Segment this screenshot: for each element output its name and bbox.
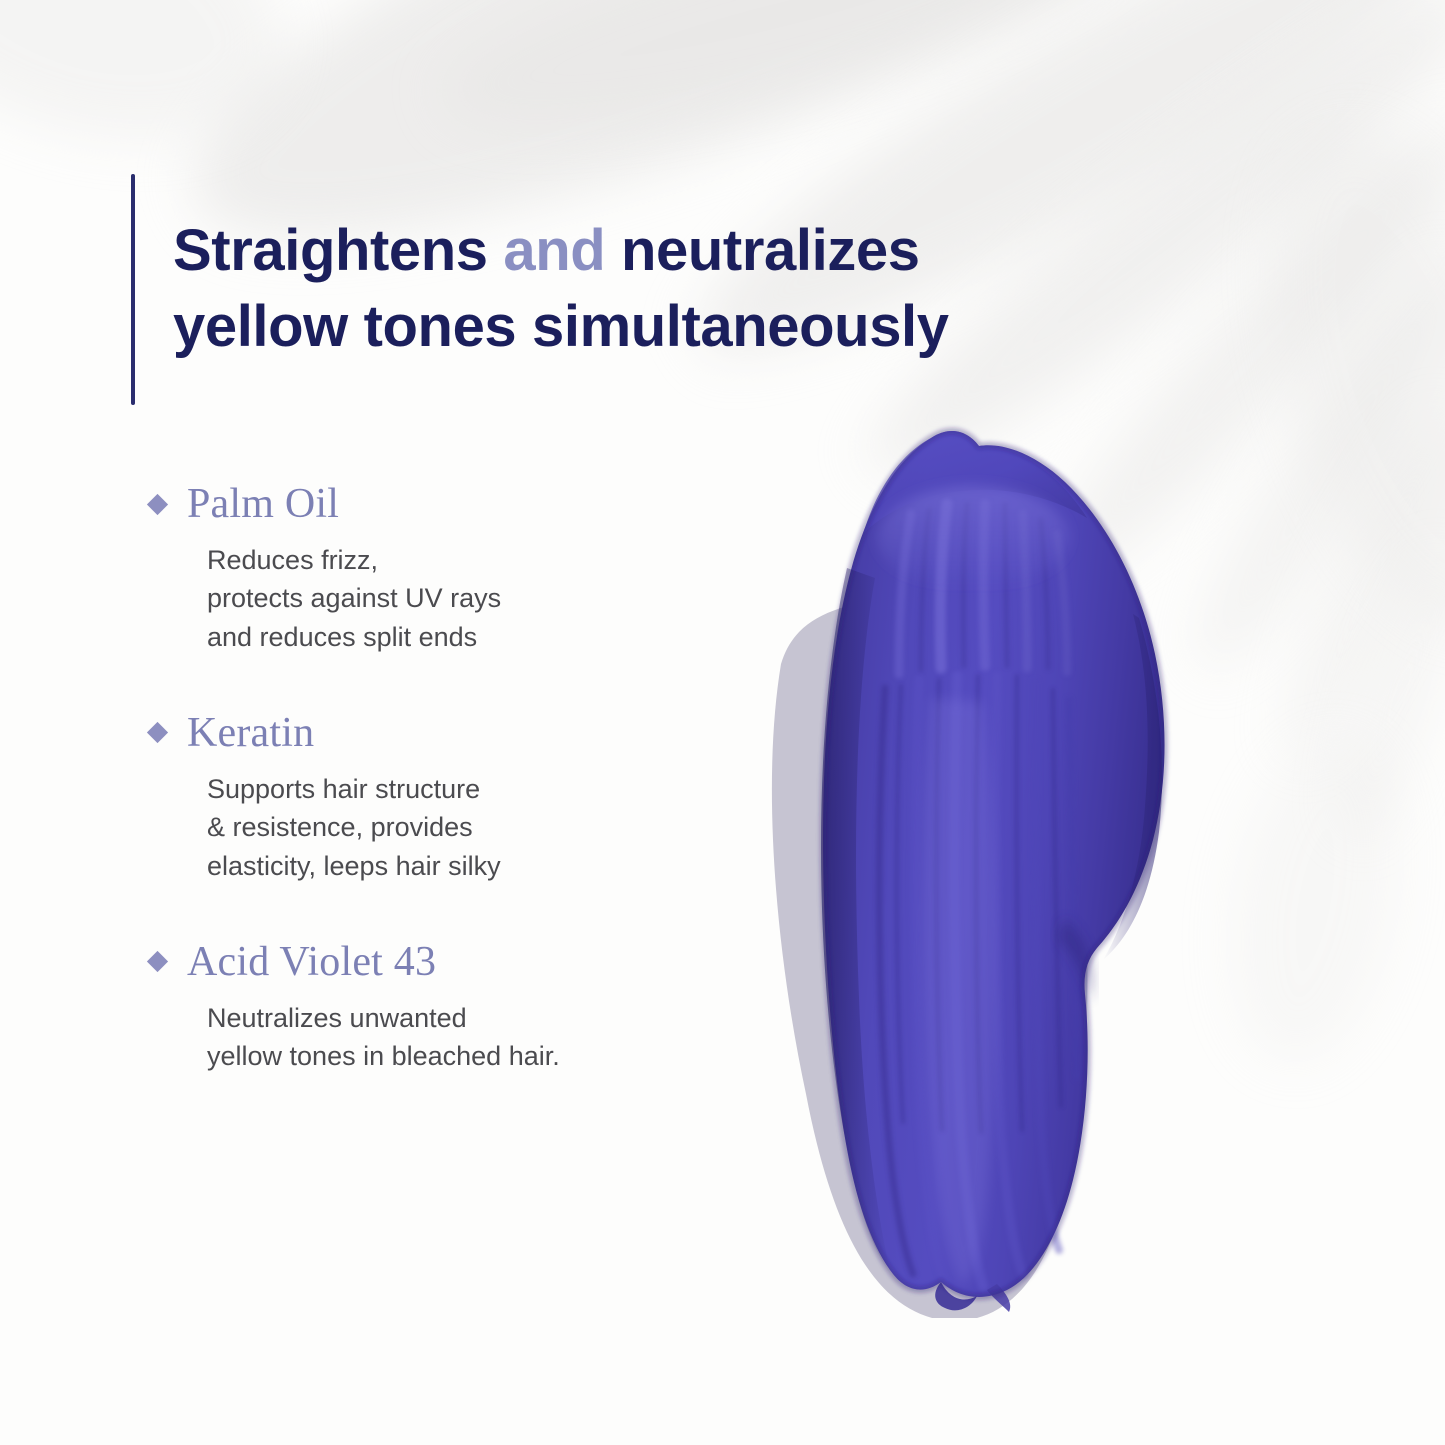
- diamond-bullet-icon: [147, 951, 168, 972]
- headline-segment-2: neutralizes: [621, 218, 920, 283]
- headline-accent-rule: [131, 174, 135, 405]
- ingredient-heading: Acid Violet 43: [145, 941, 705, 983]
- headline-segment-and: and: [503, 218, 621, 283]
- ingredient-item-keratin: Keratin Supports hair structure & resist…: [145, 712, 705, 885]
- ingredient-description: Reduces frizz, protects against UV rays …: [207, 541, 705, 656]
- headline-line-2: yellow tones simultaneously: [173, 294, 949, 359]
- ingredient-description: Neutralizes unwanted yellow tones in ble…: [207, 999, 705, 1076]
- shadow-streak: [422, 0, 1137, 172]
- product-infographic: Straightens and neutralizesyellow tones …: [0, 0, 1445, 1445]
- ingredient-title: Palm Oil: [187, 483, 339, 525]
- ingredient-item-palm-oil: Palm Oil Reduces frizz, protects against…: [145, 483, 705, 656]
- shadow-streak: [1256, 395, 1445, 775]
- diamond-bullet-icon: [147, 493, 168, 514]
- ingredient-list: Palm Oil Reduces frizz, protects against…: [145, 483, 705, 1076]
- shadow-streak: [1208, 724, 1423, 1077]
- ingredient-heading: Palm Oil: [145, 483, 705, 525]
- ingredient-title: Keratin: [187, 712, 314, 754]
- shadow-streak: [1165, 238, 1445, 693]
- shadow-streak: [0, 0, 318, 189]
- page-title: Straightens and neutralizesyellow tones …: [173, 213, 949, 366]
- ingredient-title: Acid Violet 43: [187, 941, 436, 983]
- ingredient-item-acid-violet-43: Acid Violet 43 Neutralizes unwanted yell…: [145, 941, 705, 1076]
- headline-block: Straightens and neutralizesyellow tones …: [131, 174, 949, 405]
- ingredient-description: Supports hair structure & resistence, pr…: [207, 770, 705, 885]
- diamond-bullet-icon: [147, 722, 168, 743]
- ingredient-heading: Keratin: [145, 712, 705, 754]
- shadow-streak: [1216, 96, 1445, 665]
- shadow-streak: [1320, 542, 1445, 849]
- purple-hair-mask-swatch: [735, 418, 1175, 1318]
- headline-segment-1: Straightens: [173, 218, 503, 283]
